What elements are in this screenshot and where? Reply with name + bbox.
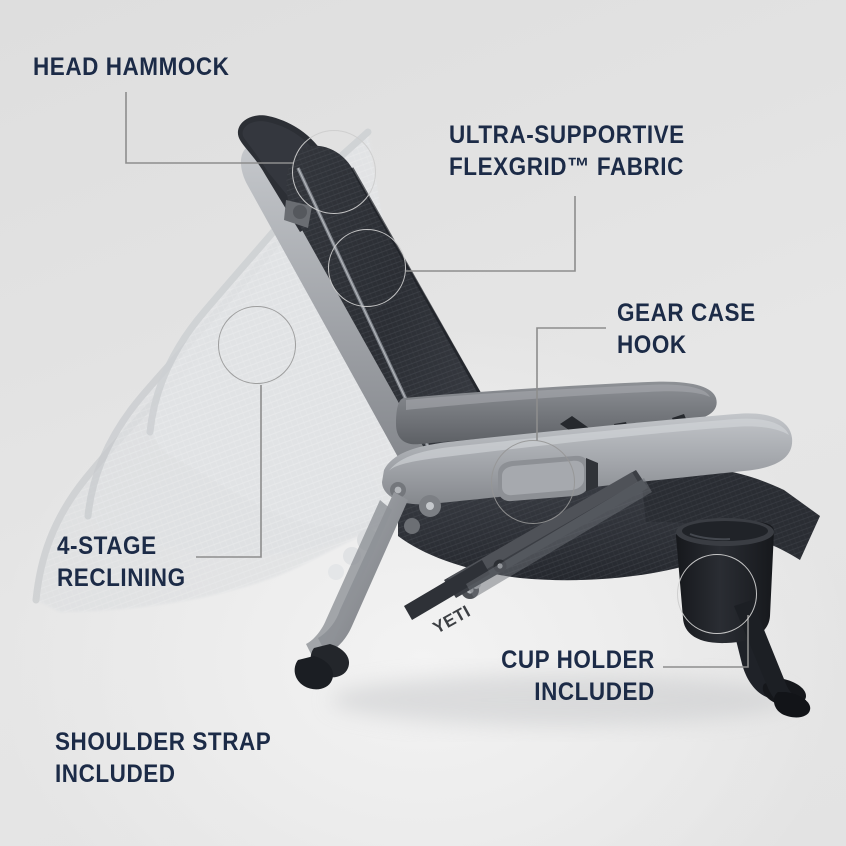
label-flexgrid-fabric: ULTRA-SUPPORTIVE FLEXGRID™ FABRIC <box>449 120 685 183</box>
svg-text:YETI: YETI <box>430 602 474 638</box>
label-head-hammock: HEAD HAMMOCK <box>33 52 229 84</box>
label-shoulder-strap-included: SHOULDER STRAP INCLUDED <box>55 727 271 790</box>
label-cup-holder-included: CUP HOLDER INCLUDED <box>501 645 655 708</box>
chair-illustration: YETI <box>0 0 846 846</box>
product-feature-diagram: YETI HEAD HAMMOCK ULTRA-SUPPOR <box>0 0 846 846</box>
label-four-stage-reclining: 4-STAGE RECLINING <box>57 531 186 594</box>
label-gear-case-hook: GEAR CASE HOOK <box>617 298 756 361</box>
